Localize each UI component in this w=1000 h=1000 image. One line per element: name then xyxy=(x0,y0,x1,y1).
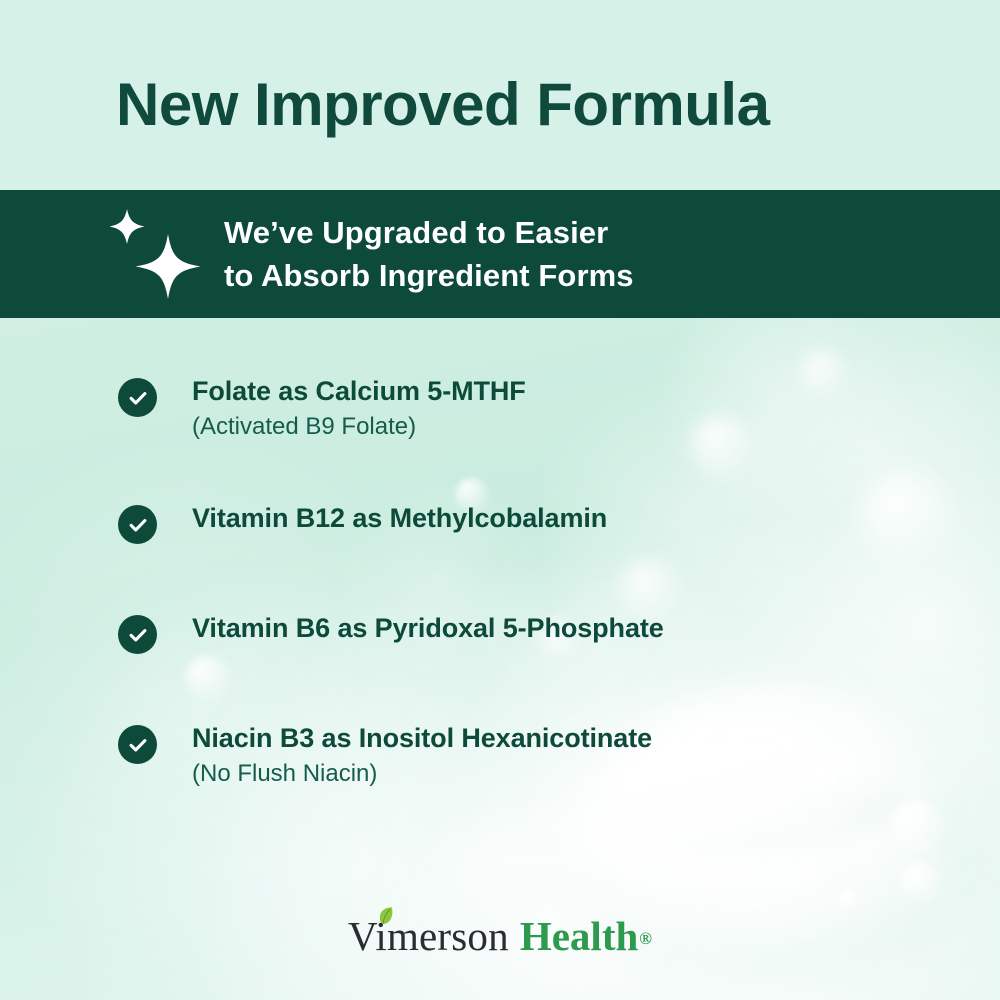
bubble-icon xyxy=(775,735,801,761)
list-item: Folate as Calcium 5-MTHF (Activated B9 F… xyxy=(118,375,526,445)
bubble-icon xyxy=(890,800,944,854)
list-item-title: Folate as Calcium 5-MTHF xyxy=(192,375,526,408)
leaf-icon xyxy=(377,906,394,925)
list-item-text: Vitamin B6 as Pyridoxal 5-Phosphate xyxy=(192,612,664,645)
list-item-text: Vitamin B12 as Methylcobalamin xyxy=(192,502,607,535)
bubble-icon xyxy=(838,890,860,912)
list-item: Vitamin B6 as Pyridoxal 5-Phosphate xyxy=(118,612,664,654)
list-item-subtitle: (Activated B9 Folate) xyxy=(192,410,526,445)
check-circle-icon xyxy=(118,615,157,654)
promo-poster: New Improved Formula We’ve Upgraded to E… xyxy=(0,0,1000,1000)
check-icon xyxy=(127,624,149,646)
check-circle-icon xyxy=(118,725,157,764)
list-item-title: Vitamin B12 as Methylcobalamin xyxy=(192,502,607,535)
check-icon xyxy=(127,387,149,409)
upgrade-banner: We’ve Upgraded to Easier to Absorb Ingre… xyxy=(0,190,1000,318)
header-section: New Improved Formula xyxy=(0,0,1000,190)
bubble-icon xyxy=(860,470,956,566)
bubble-icon xyxy=(620,560,680,620)
check-icon xyxy=(127,514,149,536)
logo-word: Vimerson xyxy=(348,913,509,959)
bubble-icon xyxy=(800,350,848,398)
list-item-subtitle: (No Flush Niacin) xyxy=(192,757,652,792)
bubble-icon xyxy=(690,415,756,481)
page-title: New Improved Formula xyxy=(116,73,769,136)
registered-trademark-icon: ® xyxy=(639,929,652,948)
logo-word-text: Vimerson xyxy=(348,913,509,959)
banner-line-1: We’ve Upgraded to Easier xyxy=(224,212,634,255)
check-icon xyxy=(127,734,149,756)
logo-brand: Health xyxy=(520,913,638,959)
brand-logo: VimersonHealth® xyxy=(0,912,1000,960)
sparkle-icon xyxy=(104,206,214,306)
list-item-title: Niacin B3 as Inositol Hexanicotinate xyxy=(192,722,652,755)
bubble-icon xyxy=(900,862,940,902)
list-item: Vitamin B12 as Methylcobalamin xyxy=(118,502,607,544)
banner-text: We’ve Upgraded to Easier to Absorb Ingre… xyxy=(224,212,634,298)
list-item-text: Niacin B3 as Inositol Hexanicotinate (No… xyxy=(192,722,652,792)
bubble-icon xyxy=(185,655,231,701)
list-item: Niacin B3 as Inositol Hexanicotinate (No… xyxy=(118,722,652,792)
banner-line-2: to Absorb Ingredient Forms xyxy=(224,255,634,298)
list-item-text: Folate as Calcium 5-MTHF (Activated B9 F… xyxy=(192,375,526,445)
list-item-title: Vitamin B6 as Pyridoxal 5-Phosphate xyxy=(192,612,664,645)
check-circle-icon xyxy=(118,378,157,417)
check-circle-icon xyxy=(118,505,157,544)
